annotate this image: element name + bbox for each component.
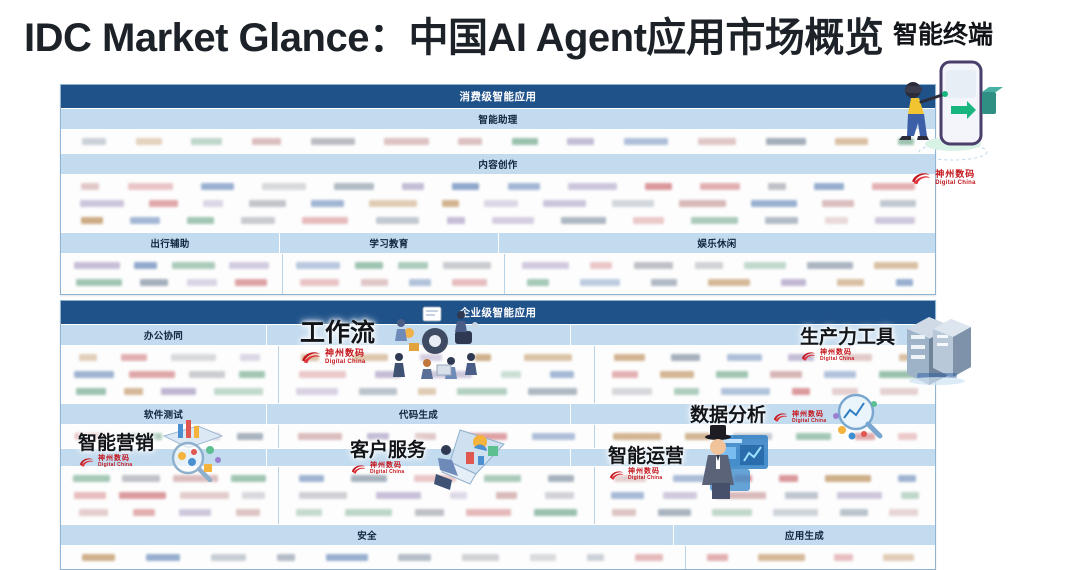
vendor-logo-mark: [398, 262, 427, 269]
vendor-logo-mark: [612, 509, 637, 516]
vendor-logo-mark: [508, 183, 541, 190]
logo-row: [285, 383, 588, 400]
vendor-logo-mark: [567, 138, 594, 145]
vendor-logo-mark: [211, 554, 246, 561]
logo-row: [67, 178, 929, 195]
callout-label: 智能终端: [893, 22, 993, 48]
vendor-logo-mark: [466, 509, 510, 516]
vendor-logo-mark: [528, 388, 577, 395]
logo-row: [67, 212, 929, 229]
vendor-logo-mark: [484, 200, 518, 207]
vendor-logo-mark: [146, 554, 180, 561]
logo-row: [601, 504, 929, 521]
vendor-logo-mark: [384, 138, 428, 145]
logo-row: [285, 504, 588, 521]
vendor-logo-mark: [613, 433, 661, 440]
vendor-logo-mark: [229, 262, 268, 269]
vendor-logo-mark: [415, 433, 437, 440]
vendor-logo-mark: [698, 138, 736, 145]
vendor-logo-mark: [721, 388, 770, 395]
logo-row: [67, 428, 272, 445]
logo-row: [285, 366, 588, 383]
vendor-logo-mark: [82, 554, 115, 561]
subsection-header-row-enterprise-2: 软件测试 代码生成: [61, 403, 935, 425]
vendor-logo-mark: [901, 492, 919, 499]
subsection-header-blank-2: [570, 324, 935, 346]
vendor-logo-mark: [299, 371, 346, 378]
vendor-logo-mark: [561, 217, 606, 224]
vendor-logo-mark: [203, 200, 224, 207]
vendor-logo-mark: [825, 217, 847, 224]
vendor-logo-mark: [136, 138, 162, 145]
brand-name-en: Digital China: [935, 180, 976, 186]
vendor-logo-mark: [452, 279, 488, 286]
brand-name-cn: 神州数码: [935, 170, 976, 179]
vendor-logo-mark: [171, 354, 216, 361]
vendor-logo-mark: [712, 509, 752, 516]
vendor-logo-mark: [814, 183, 843, 190]
vendor-logo-mark: [492, 217, 533, 224]
vendor-logo-mark: [240, 354, 260, 361]
logo-row: [601, 470, 929, 487]
subsection-header-blank-6: [570, 448, 935, 467]
logo-row: [601, 383, 929, 400]
vendor-logo-mark: [898, 138, 914, 145]
subsection-header-content-creation: 内容创作: [61, 153, 935, 175]
vendor-logo-mark: [612, 371, 638, 378]
vendor-logo-mark: [462, 554, 499, 561]
vendor-logo-mark: [140, 279, 168, 286]
vendor-logo-mark: [788, 354, 814, 361]
vendor-logo-mark: [674, 388, 699, 395]
vendor-logo-mark: [249, 200, 286, 207]
vendor-logo-mark: [241, 217, 275, 224]
vendor-logo-mark: [568, 183, 617, 190]
subsection-header-travel: 出行辅助: [61, 232, 279, 254]
vendor-logo-mark: [361, 279, 388, 286]
vendor-logo-mark: [376, 492, 421, 499]
consumer-section: 消费级智能应用 智能助理 内容创作 出行辅助 学习教育 娱乐休闲: [60, 84, 936, 295]
logo-row: [289, 274, 498, 291]
vendor-logo-mark: [414, 475, 456, 482]
vendor-logo-mark: [837, 492, 882, 499]
logo-row: [601, 349, 929, 366]
vendor-logo-mark: [635, 554, 664, 561]
vendor-logo-mark: [398, 554, 431, 561]
vendor-logo-mark: [707, 554, 728, 561]
vendor-logo-mark: [236, 509, 260, 516]
vendor-logo-mark: [751, 200, 797, 207]
vendor-logo-mark: [614, 354, 645, 361]
vendor-logo-mark: [880, 200, 917, 207]
vendor-logo-mark: [231, 475, 266, 482]
vendor-logo-mark: [645, 183, 672, 190]
vendor-logo-mark: [415, 509, 444, 516]
vendor-logo-mark: [128, 183, 174, 190]
vendor-logo-mark: [522, 262, 569, 269]
vendor-logo-mark: [359, 388, 397, 395]
vendor-logo-mark: [80, 200, 125, 207]
vendor-logo-mark: [768, 183, 786, 190]
logo-grid-smart-assistant: [61, 130, 935, 153]
vendor-logo-mark: [74, 262, 119, 269]
vendor-logo-mark: [532, 433, 575, 440]
vendor-logo-mark: [352, 354, 387, 361]
logo-row: [692, 549, 929, 566]
vendor-logo-mark: [450, 492, 468, 499]
vendor-logo-mark: [402, 183, 424, 190]
vendor-logo-mark: [611, 492, 645, 499]
vendor-logo-mark: [899, 354, 916, 361]
vendor-logo-mark: [79, 509, 108, 516]
vendor-logo-mark: [580, 279, 620, 286]
subsection-header-row-enterprise-1: 办公协同: [61, 324, 935, 346]
vendor-logo-mark: [180, 492, 229, 499]
vendor-logo-mark: [76, 279, 121, 286]
vendor-logo-mark: [660, 371, 693, 378]
vendor-logo-mark: [512, 138, 538, 145]
vendor-logo-mark: [543, 200, 586, 207]
vendor-logo-mark: [351, 475, 387, 482]
logo-row: [511, 257, 929, 274]
vendor-logo-mark: [550, 371, 574, 378]
vendor-logo-mark: [475, 354, 492, 361]
vendor-logo-mark: [781, 279, 805, 286]
subsection-header-security: 安全: [61, 524, 673, 546]
logo-grid-enterprise-3: [61, 467, 935, 524]
vendor-logo-mark: [496, 492, 517, 499]
vendor-logo-mark: [298, 433, 342, 440]
vendor-logo-mark: [840, 509, 868, 516]
vendor-logo-mark: [807, 262, 853, 269]
market-glance-matrix: 消费级智能应用 智能助理 内容创作 出行辅助 学习教育 娱乐休闲: [60, 84, 936, 570]
vendor-logo-mark: [898, 433, 917, 440]
vendor-logo-mark: [524, 354, 572, 361]
vendor-logo-mark: [123, 433, 163, 440]
vendor-logo-mark: [614, 475, 646, 482]
vendor-logo-mark: [367, 433, 389, 440]
vendor-logo-mark: [832, 388, 858, 395]
vendor-logo-mark: [548, 475, 574, 482]
vendor-logo-mark: [700, 183, 740, 190]
enterprise-section-band: 企业级智能应用: [61, 301, 935, 324]
vendor-logo-mark: [716, 492, 766, 499]
logo-cell: [282, 254, 504, 294]
subsection-header-blank-3: [570, 403, 935, 425]
vendor-logo-mark: [81, 183, 99, 190]
vendor-logo-mark: [590, 262, 613, 269]
vendor-logo-mark: [161, 388, 196, 395]
logo-row: [67, 195, 929, 212]
vendor-logo-mark: [311, 138, 355, 145]
vendor-logo-mark: [462, 433, 507, 440]
logo-row: [601, 428, 929, 445]
consumer-section-band: 消费级智能应用: [61, 85, 935, 108]
vendor-logo-mark: [822, 200, 854, 207]
logo-row: [601, 366, 929, 383]
logo-cell: [278, 467, 594, 524]
vendor-logo-mark: [375, 371, 401, 378]
subsection-header-entertainment: 娱乐休闲: [498, 232, 935, 254]
logo-row: [67, 549, 679, 566]
logo-grid-enterprise-1: [61, 346, 935, 403]
vendor-logo-mark: [242, 492, 265, 499]
vendor-logo-mark: [872, 183, 915, 190]
vendor-logo-mark: [409, 279, 431, 286]
vendor-logo-mark: [149, 200, 177, 207]
vendor-logo-mark: [326, 554, 368, 561]
vendor-logo-mark: [187, 279, 217, 286]
subsection-header-education: 学习教育: [279, 232, 498, 254]
subsection-header-row-enterprise-4: 安全 应用生成: [61, 524, 935, 546]
vendor-logo-mark: [734, 475, 752, 482]
vendor-logo-mark: [301, 354, 319, 361]
logo-row: [285, 470, 588, 487]
vendor-logo-mark: [658, 509, 691, 516]
subsection-header-software-testing: 软件测试: [61, 403, 266, 425]
slide-canvas: IDC Market Glance：中国AI Agent应用市场概览 消费级智能…: [0, 0, 1080, 525]
logo-row: [67, 383, 272, 400]
vendor-logo-mark: [633, 217, 664, 224]
vendor-logo-mark: [75, 433, 105, 440]
vendor-logo-mark: [355, 262, 384, 269]
vendor-logo-mark: [796, 433, 831, 440]
vendor-logo-mark: [695, 262, 724, 269]
vendor-logo-mark: [773, 509, 818, 516]
vendor-logo-mark: [534, 509, 577, 516]
vendor-logo-mark: [880, 388, 918, 395]
vendor-logo-mark: [587, 554, 604, 561]
page-title: IDC Market Glance：中国AI Agent应用市场概览: [24, 18, 883, 58]
vendor-logo-mark: [447, 217, 466, 224]
vendor-logo-mark: [81, 217, 103, 224]
logo-cell: [594, 346, 935, 403]
vendor-logo-mark: [122, 475, 160, 482]
vendor-logo-mark: [744, 262, 786, 269]
vendor-logo-mark: [235, 279, 266, 286]
vendor-logo-mark: [624, 138, 668, 145]
vendor-logo-mark: [345, 509, 392, 516]
vendor-logo-mark: [883, 554, 914, 561]
vendor-logo-mark: [172, 262, 215, 269]
vendor-logo-mark: [673, 475, 707, 482]
vendor-logo-mark: [124, 388, 143, 395]
vendor-logo-mark: [189, 371, 224, 378]
logo-row: [511, 274, 929, 291]
vendor-logo-mark: [898, 475, 915, 482]
vendor-logo-mark: [300, 279, 340, 286]
enterprise-section: 企业级智能应用 办公协同: [60, 300, 936, 570]
logo-row: [285, 487, 588, 504]
vendor-logo-mark: [727, 354, 762, 361]
vendor-logo-mark: [76, 388, 106, 395]
vendor-logo-mark: [191, 138, 221, 145]
vendor-logo-mark: [296, 509, 321, 516]
vendor-logo-mark: [779, 475, 798, 482]
vendor-logo-mark: [239, 371, 264, 378]
vendor-logo-mark: [824, 371, 856, 378]
vendor-logo-mark: [252, 138, 281, 145]
logo-grid-enterprise-4: [61, 546, 935, 569]
vendor-logo-mark: [82, 138, 106, 145]
logo-grid-enterprise-2: [61, 425, 935, 448]
vendor-logo-mark: [296, 388, 339, 395]
vendor-logo-mark: [501, 371, 522, 378]
subsection-header-blank-5: [266, 448, 570, 467]
subsection-header-code-generation: 代码生成: [266, 403, 570, 425]
vendor-logo-mark: [302, 217, 348, 224]
vendor-logo-mark: [834, 554, 853, 561]
vendor-logo-mark: [262, 183, 305, 190]
vendor-logo-mark: [133, 509, 154, 516]
vendor-logo-mark: [765, 217, 798, 224]
subsection-header-blank-1: [266, 324, 570, 346]
logo-cell: [61, 254, 282, 294]
vendor-logo-mark: [429, 371, 472, 378]
vendor-logo-mark: [527, 279, 549, 286]
vendor-logo-mark: [299, 492, 347, 499]
vendor-logo-mark: [237, 433, 264, 440]
subsection-header-office-collab: 办公协同: [61, 324, 266, 346]
vendor-logo-mark: [369, 200, 417, 207]
subsection-header-app-generation: 应用生成: [673, 524, 935, 546]
logo-row: [67, 349, 272, 366]
vendor-logo-mark: [716, 371, 747, 378]
logo-cell: [504, 254, 935, 294]
logo-cell: [61, 425, 278, 448]
vendor-logo-mark: [770, 371, 802, 378]
vendor-logo-mark: [179, 433, 220, 440]
vendor-logo-mark: [841, 354, 873, 361]
vendor-logo-mark: [214, 388, 262, 395]
vendor-logo-mark: [766, 138, 806, 145]
vendor-logo-mark: [484, 475, 521, 482]
vendor-logo-mark: [376, 217, 420, 224]
subsection-header-row-enterprise-3: [61, 448, 935, 467]
logo-cell: [61, 346, 278, 403]
vendor-logo-mark: [835, 138, 868, 145]
vendor-logo-mark: [418, 388, 435, 395]
vendor-logo-mark: [708, 279, 750, 286]
vendor-logo-mark: [530, 554, 556, 561]
vendor-logo-mark: [671, 354, 700, 361]
vendor-logo-mark: [311, 200, 344, 207]
vendor-logo-mark: [334, 183, 374, 190]
vendor-logo-mark: [874, 262, 918, 269]
vendor-logo-mark: [187, 217, 214, 224]
vendor-logo-mark: [452, 183, 480, 190]
vendor-logo-mark: [879, 371, 918, 378]
subsection-header-row-consumer-bottom: 出行辅助 学习教育 娱乐休闲: [61, 232, 935, 254]
vendor-logo-mark: [651, 279, 676, 286]
vendor-logo-mark: [201, 183, 234, 190]
vendor-logo-mark: [134, 262, 157, 269]
logo-row: [289, 257, 498, 274]
vendor-logo-mark: [121, 354, 147, 361]
vendor-logo-mark: [129, 371, 174, 378]
vendor-logo-mark: [119, 492, 166, 499]
logo-cell: [594, 425, 935, 448]
vendor-logo-mark: [79, 354, 97, 361]
vendor-logo-mark: [74, 371, 114, 378]
logo-row: [67, 366, 272, 383]
logo-cell: [685, 546, 935, 569]
vendor-logo-mark: [179, 509, 210, 516]
logo-cell: [278, 346, 594, 403]
vendor-logo-mark: [296, 262, 339, 269]
vendor-logo-mark: [173, 475, 219, 482]
vendor-logo-mark: [758, 554, 805, 561]
logo-cell: [61, 175, 935, 232]
vendor-logo-mark: [420, 354, 442, 361]
subsection-header-blank-4: [61, 448, 266, 467]
logo-row: [67, 133, 929, 150]
logo-row: [67, 504, 272, 521]
logo-row: [285, 349, 588, 366]
logo-row: [67, 274, 276, 291]
vendor-logo-mark: [73, 475, 109, 482]
vendor-logo-mark: [855, 433, 875, 440]
vendor-logo-mark: [612, 200, 654, 207]
vendor-logo-mark: [685, 433, 710, 440]
vendor-logo-mark: [875, 217, 915, 224]
vendor-logo-mark: [443, 262, 491, 269]
vendor-logo-mark: [825, 475, 872, 482]
vendor-logo-mark: [277, 554, 295, 561]
logo-grid-consumer-bottom: [61, 254, 935, 294]
logo-cell: [594, 467, 935, 524]
logo-row: [67, 487, 272, 504]
vendor-logo-mark: [896, 279, 913, 286]
vendor-logo-mark: [442, 200, 459, 207]
logo-row: [285, 428, 588, 445]
vendor-logo-mark: [74, 492, 107, 499]
vendor-logo-mark: [889, 509, 918, 516]
vendor-logo-mark: [691, 217, 738, 224]
logo-row: [67, 470, 272, 487]
vendor-logo-mark: [457, 388, 507, 395]
logo-cell: [278, 425, 594, 448]
logo-cell: [61, 467, 278, 524]
vendor-logo-mark: [792, 388, 810, 395]
vendor-logo-mark: [458, 138, 482, 145]
vendor-logo-mark: [299, 475, 324, 482]
subsection-header-smart-assistant: 智能助理: [61, 108, 935, 130]
logo-row: [601, 487, 929, 504]
vendor-logo-mark: [733, 433, 772, 440]
logo-grid-content-creation: [61, 175, 935, 232]
vendor-logo-mark: [612, 388, 652, 395]
vendor-logo-mark: [663, 492, 697, 499]
vendor-logo-mark: [785, 492, 818, 499]
logo-cell: [61, 130, 935, 153]
vendor-logo-mark: [634, 262, 674, 269]
vendor-logo-mark: [837, 279, 864, 286]
vendor-logo-mark: [130, 217, 160, 224]
vendor-logo-mark: [679, 200, 726, 207]
logo-row: [67, 257, 276, 274]
vendor-logo-mark: [545, 492, 573, 499]
logo-cell: [61, 546, 685, 569]
